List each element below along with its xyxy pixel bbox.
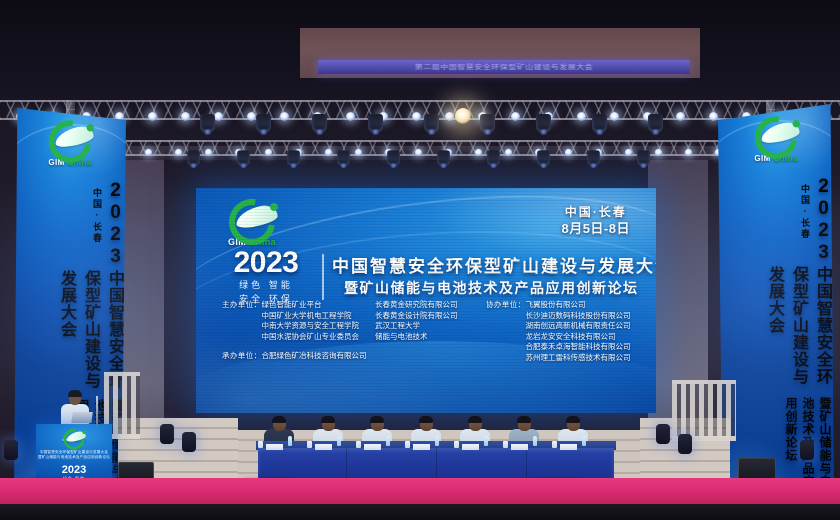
truss-par-light xyxy=(175,149,182,156)
speaker-hair xyxy=(68,390,82,397)
podium-line-2: 暨矿山储能与电池技术及产品应用创新论坛 xyxy=(36,455,112,460)
water-bottle xyxy=(435,436,439,446)
sponsor-organizer-block: 承办单位： 合肥绿色矿冶科技咨询有限公司 xyxy=(222,351,472,362)
sponsor-item: 长春黄金设计院有限公司 xyxy=(375,311,458,322)
sponsor-organizer-value: 合肥绿色矿冶科技咨询有限公司 xyxy=(262,351,367,362)
gim-logo-icon xyxy=(224,198,280,236)
table-nameplate xyxy=(266,442,283,450)
moving-head-light xyxy=(387,150,400,165)
screen-title-divider xyxy=(322,254,324,300)
truss-par-light xyxy=(445,112,454,121)
screen-year-sub-1: 绿色 智能 xyxy=(218,280,314,292)
sponsor-item: 武汉工程大学 xyxy=(375,321,458,332)
truss-par-light xyxy=(511,112,520,121)
moving-head-light xyxy=(648,114,663,132)
screen-title-sub: 暨矿山储能与电池技术及产品应用创新论坛 xyxy=(332,278,656,298)
gim-dot-shape xyxy=(82,430,86,434)
panelist-head xyxy=(322,417,335,431)
water-bottle xyxy=(582,436,586,446)
truss-par-light xyxy=(205,149,212,156)
moving-head-light xyxy=(537,150,550,165)
moving-head-light xyxy=(287,150,300,165)
moving-head-light xyxy=(536,114,551,132)
panelist-hair xyxy=(272,416,286,423)
moving-head-light xyxy=(256,114,271,132)
sponsor-item: 绿色智能矿业平台 xyxy=(262,300,360,311)
sponsor-item: 中南大学资源与安全工程学院 xyxy=(262,321,360,332)
truss-par-light xyxy=(565,149,572,156)
sponsor-coorganizer-list: 飞翼股份有限公司 长沙迪迈数码科技股份有限公司 湖南创远高新机械有限责任公司 龙… xyxy=(526,300,631,363)
truss-par-light xyxy=(214,112,223,121)
stage-front-apron xyxy=(0,504,840,520)
sponsor-item: 储能与电池技术 xyxy=(375,332,458,343)
water-cup xyxy=(405,441,410,448)
screen-title-column: 中国智慧安全环保型矿山建设与发展大会 暨矿山储能与电池技术及产品应用创新论坛 xyxy=(332,256,656,298)
table-nameplate xyxy=(315,442,332,450)
banner-location: 中国·长春 xyxy=(799,184,812,264)
screen-title-block: 2023 绿色 智能 安全 环保 中国智慧安全环保型矿山建设与发展大会 暨矿山储… xyxy=(218,248,656,306)
venue-led-ticker-text: 第二届中国智慧安全环保型矿山建设与发展大会 xyxy=(415,63,594,72)
moving-head-light xyxy=(592,114,607,132)
sponsor-host-block: 主办单位： 绿色智能矿业平台 中国矿业大学机电工程学院 中南大学资源与安全工程学… xyxy=(222,300,472,342)
balustrade-right xyxy=(672,380,736,441)
panelist-hair xyxy=(370,416,384,423)
panelist-head xyxy=(567,417,580,431)
truss-par-light xyxy=(346,112,355,121)
table-nameplate xyxy=(413,442,430,450)
banner-location: 中国·长春 xyxy=(91,188,104,268)
gim-dot-shape xyxy=(87,124,94,131)
sponsor-host-col-2: 长春黄金研究院有限公司 长春黄金设计院有限公司 武汉工程大学 储能与电池技术 xyxy=(375,300,458,342)
sponsor-item: 飞翼股份有限公司 xyxy=(526,300,631,311)
table-nameplate xyxy=(364,442,381,450)
truss-par-light xyxy=(247,112,256,121)
water-cup xyxy=(258,441,263,448)
panelist-hair xyxy=(468,416,482,423)
banner-logo-left: GIM China xyxy=(14,118,126,168)
moving-head-light xyxy=(187,150,200,165)
banner-right-year-loc: 2023 中国·长春 xyxy=(799,176,834,264)
banner-col-wrap-right: 2023 中国·长春 中国智慧安全环保型矿山建设与发展大会 暨矿山储能与电池技术… xyxy=(718,176,834,500)
table-nameplate xyxy=(560,442,577,450)
sponsor-organizer-label: 承办单位： xyxy=(222,351,262,362)
truss-par-light xyxy=(280,112,289,121)
gim-logo-icon xyxy=(61,428,87,437)
panelist-head xyxy=(273,417,286,431)
panelist-head xyxy=(371,417,384,431)
truss-par-light xyxy=(655,149,662,156)
truss-par-light xyxy=(610,112,619,121)
truss-par-light xyxy=(412,112,421,121)
screen-sponsor-block: 主办单位： 绿色智能矿业平台 中国矿业大学机电工程学院 中南大学资源与安全工程学… xyxy=(222,300,642,363)
truss-par-light xyxy=(709,112,718,121)
sponsor-coorganizer-label: 协办单位： xyxy=(486,300,526,363)
banner-title-main: 中国智慧安全环保型矿山建设与发展大会 xyxy=(762,266,834,393)
truss-par-light xyxy=(577,112,586,121)
sponsor-item: 龙岩龙安安全科技有限公司 xyxy=(526,332,631,343)
gim-logo-icon xyxy=(750,116,802,151)
speaker-head xyxy=(69,392,81,405)
table-nameplate xyxy=(462,442,479,450)
sponsor-item: 长沙迪迈数码科技股份有限公司 xyxy=(526,311,631,322)
side-moving-light-right-1 xyxy=(656,424,670,444)
moving-head-light xyxy=(587,150,600,165)
panelist-head xyxy=(518,417,531,431)
gim-dot-shape xyxy=(270,203,278,211)
water-bottle xyxy=(386,436,390,446)
water-bottle xyxy=(288,436,292,446)
vertical-banner-right: GIM China 2023 中国·长春 中国智慧安全环保型矿山建设与发展大会 … xyxy=(718,104,834,510)
screen-location-block: 中国·长春 8月5日-8日 xyxy=(561,204,630,237)
sponsor-host-columns: 绿色智能矿业平台 中国矿业大学机电工程学院 中南大学资源与安全工程学院 中国水泥… xyxy=(262,300,474,342)
table-nameplate xyxy=(511,442,528,450)
side-moving-light-right-2 xyxy=(678,434,692,454)
truss-par-light xyxy=(148,112,157,121)
water-cup xyxy=(307,441,312,448)
moving-head-light xyxy=(487,150,500,165)
venue-led-ticker: 第二届中国智慧安全环保型矿山建设与发展大会 xyxy=(318,60,690,74)
panelist-head xyxy=(469,417,482,431)
moving-head-light xyxy=(424,114,439,132)
sponsor-coorganizer-block: 协办单位： 飞翼股份有限公司 长沙迪迈数码科技股份有限公司 湖南创远高新机械有限… xyxy=(486,300,647,363)
podium-title-lines: 中国智慧安全环保型矿山建设与发展大会 暨矿山储能与电池技术及产品应用创新论坛 xyxy=(36,450,112,460)
truss-par-light xyxy=(355,149,362,156)
truss-par-light xyxy=(676,112,685,121)
panelist-hair xyxy=(419,416,433,423)
truss-par-light xyxy=(685,149,692,156)
water-bottle xyxy=(337,436,341,446)
moving-head-light xyxy=(200,114,215,132)
panelist-hair xyxy=(517,416,531,423)
sponsor-item: 中国矿业大学机电工程学院 xyxy=(262,311,360,322)
sponsor-item: 苏州理工雷科传感技术有限公司 xyxy=(526,353,631,364)
panelist-hair xyxy=(566,416,580,423)
sponsor-item: 合肥泰禾卓海智能科技有限公司 xyxy=(526,342,631,353)
screen-year-column: 2023 绿色 智能 安全 环保 xyxy=(218,248,314,306)
truss-par-light xyxy=(475,149,482,156)
truss-par-light xyxy=(415,149,422,156)
water-bottle xyxy=(484,436,488,446)
side-moving-light-far-left xyxy=(4,440,18,460)
banner-text-columns-right: 2023 中国·长春 中国智慧安全环保型矿山建设与发展大会 暨矿山储能与电池技术… xyxy=(718,176,834,500)
truss-bright-spot-light xyxy=(455,108,471,124)
moving-head-light xyxy=(312,114,327,132)
banner-year: 2023 xyxy=(812,176,834,264)
truss-par-light xyxy=(325,149,332,156)
main-led-screen: GIM China 中国·长春 8月5日-8日 2023 绿色 智能 安全 环保… xyxy=(196,188,656,413)
sponsor-row: 主办单位： 绿色智能矿业平台 中国矿业大学机电工程学院 中南大学资源与安全工程学… xyxy=(222,300,642,363)
screen-city: 中国·长春 xyxy=(561,204,630,220)
moving-head-light xyxy=(337,150,350,165)
panelist-hair xyxy=(321,416,335,423)
truss-par-light xyxy=(505,149,512,156)
moving-head-light xyxy=(368,114,383,132)
podium-microphone-stand xyxy=(96,396,98,426)
gim-logo-icon xyxy=(44,120,96,155)
podium-laptop xyxy=(71,412,93,423)
screen-year: 2023 xyxy=(218,248,314,278)
moving-head-light xyxy=(437,150,450,165)
water-cup xyxy=(552,441,557,448)
sponsor-item: 中国水泥协会矿山专业委员会 xyxy=(262,332,360,343)
truss-par-light xyxy=(145,149,152,156)
side-moving-light-left-2 xyxy=(182,432,196,452)
moving-head-light xyxy=(480,114,495,132)
side-moving-light-far-right xyxy=(800,440,814,460)
screen-dates: 8月5日-8日 xyxy=(561,220,630,237)
gim-dot-shape xyxy=(793,120,800,127)
water-cup xyxy=(454,441,459,448)
sponsor-host-label: 主办单位： xyxy=(222,300,262,342)
sponsor-item: 长春黄金研究院有限公司 xyxy=(375,300,458,311)
side-moving-light-left-1 xyxy=(160,424,174,444)
banner-logo-right: GIM China xyxy=(718,114,834,164)
moving-head-light xyxy=(637,150,650,165)
banner-year: 2023 xyxy=(104,180,126,268)
panelist-head xyxy=(420,417,433,431)
screen-title-main: 中国智慧安全环保型矿山建设与发展大会 xyxy=(332,256,656,278)
sponsor-item: 湖南创远高新机械有限责任公司 xyxy=(526,321,631,332)
water-bottle xyxy=(533,436,537,446)
truss-par-light xyxy=(625,149,632,156)
sponsor-host-col-1: 绿色智能矿业平台 中国矿业大学机电工程学院 中南大学资源与安全工程学院 中国水泥… xyxy=(262,300,360,342)
truss-par-light xyxy=(181,112,190,121)
water-cup xyxy=(356,441,361,448)
podium-logo: GIM China xyxy=(36,428,112,445)
banner-left-year-loc: 2023 中国·长春 xyxy=(91,180,126,268)
sponsor-host-group: 主办单位： 绿色智能矿业平台 中国矿业大学机电工程学院 中南大学资源与安全工程学… xyxy=(222,300,472,363)
truss-par-light xyxy=(265,149,272,156)
podium-year: 2023 xyxy=(36,464,112,476)
conference-stage-photo: 第二届中国智慧安全环保型矿山建设与发展大会 GIM China 中国·长春 8月 xyxy=(0,0,840,520)
water-cup xyxy=(503,441,508,448)
moving-head-light xyxy=(237,150,250,165)
